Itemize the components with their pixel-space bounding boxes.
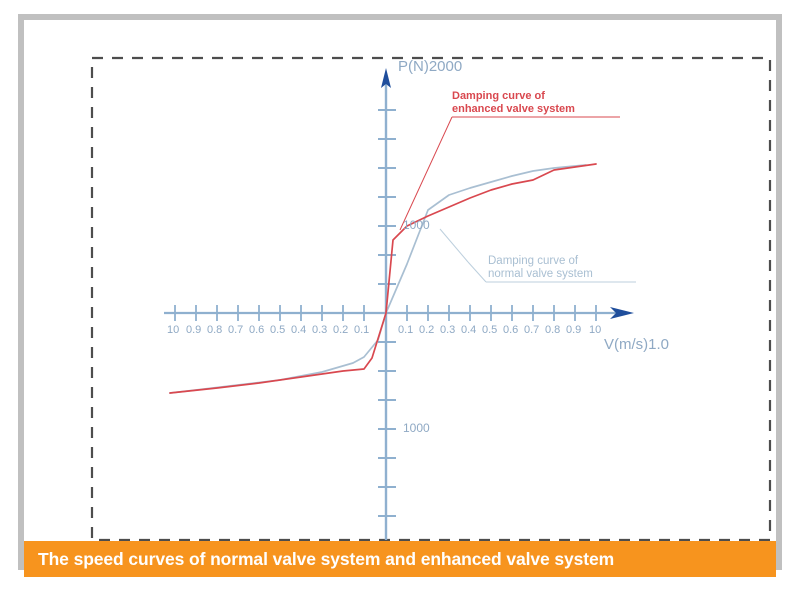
caption-bar: The speed curves of normal valve system … <box>24 541 776 577</box>
x-tick-label-right-8: 0.9 <box>566 324 581 336</box>
annotation-normal-line1: Damping curve of <box>488 255 593 268</box>
x-tick-label-right-0: 0.1 <box>398 324 413 336</box>
x-tick-label-left-5: 0.5 <box>270 324 285 336</box>
slide-root: 10 0.9 0.8 0.7 0.6 0.5 0.4 0.3 0.2 0.1 0… <box>0 0 800 616</box>
y-tick-label-negative: 1000 <box>403 421 430 435</box>
x-tick-label-right-4: 0.5 <box>482 324 497 336</box>
plot-area: 10 0.9 0.8 0.7 0.6 0.5 0.4 0.3 0.2 0.1 0… <box>48 40 800 556</box>
outer-frame: 10 0.9 0.8 0.7 0.6 0.5 0.4 0.3 0.2 0.1 0… <box>18 14 782 570</box>
y-axis-title: P(N)2000 <box>398 58 462 75</box>
x-tick-label-right-3: 0.4 <box>461 324 476 336</box>
leader-line-normal <box>440 229 468 262</box>
x-tick-label-right-6: 0.7 <box>524 324 539 336</box>
x-tick-label-right-7: 0.8 <box>545 324 560 336</box>
x-axis-title: V(m/s)1.0 <box>604 336 669 353</box>
annotation-enhanced-line1: Damping curve of <box>452 90 575 103</box>
annotation-normal-valve: Damping curve of normal valve system <box>488 255 593 280</box>
x-tick-label-left-7: 0.3 <box>312 324 327 336</box>
x-tick-label-right-5: 0.6 <box>503 324 518 336</box>
x-tick-label-left-9: 0.1 <box>354 324 369 336</box>
x-tick-label-left-2: 0.8 <box>207 324 222 336</box>
x-tick-label-left-3: 0.7 <box>228 324 243 336</box>
x-tick-label-left-4: 0.6 <box>249 324 264 336</box>
dashed-boundary <box>92 58 770 540</box>
x-tick-label-left-8: 0.2 <box>333 324 348 336</box>
annotation-enhanced-valve: Damping curve of enhanced valve system <box>452 90 575 115</box>
caption-text: The speed curves of normal valve system … <box>24 549 614 570</box>
chart-svg <box>48 40 800 556</box>
annotation-normal-line2: normal valve system <box>488 268 593 281</box>
x-tick-label-left-0: 10 <box>167 324 179 336</box>
y-tick-label-positive: 1000 <box>403 218 430 232</box>
x-tick-label-right-9: 10 <box>589 324 601 336</box>
annotation-enhanced-line2: enhanced valve system <box>452 103 575 116</box>
x-tick-label-right-1: 0.2 <box>419 324 434 336</box>
x-tick-label-right-2: 0.3 <box>440 324 455 336</box>
x-tick-label-left-6: 0.4 <box>291 324 306 336</box>
leader-line-normal-lower <box>468 262 486 282</box>
x-tick-label-left-1: 0.9 <box>186 324 201 336</box>
